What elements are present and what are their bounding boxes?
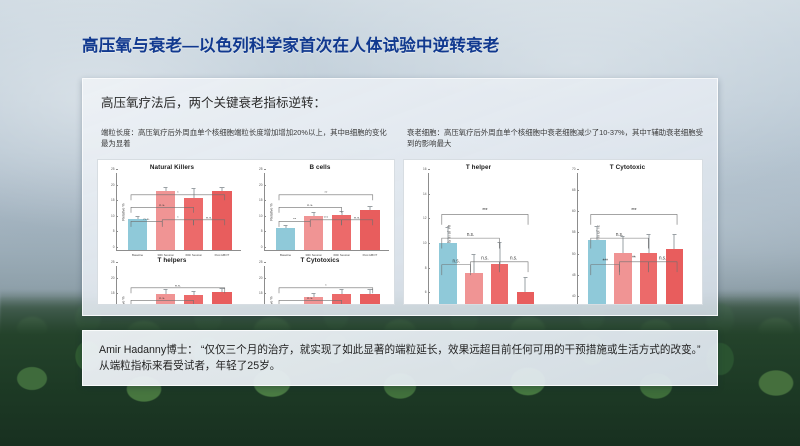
bar [184, 295, 203, 305]
bar-slot [156, 173, 175, 250]
y-tick-label: 15 [259, 198, 264, 202]
page-title: 高压氧与衰老—以色列科学家首次在人体试验中逆转衰老 [82, 32, 500, 56]
y-tick-label: 8 [425, 266, 428, 270]
bar [212, 292, 231, 305]
bar-slot [276, 266, 295, 305]
bar-slot [184, 173, 203, 250]
y-tick-label: 45 [572, 273, 577, 277]
error-bar [596, 226, 597, 241]
bar [212, 191, 231, 250]
error-bar [221, 187, 222, 192]
plot-area: Relative %0510152025*****n.s.n.s.**Basel… [264, 173, 389, 251]
y-tick-label: 55 [572, 230, 577, 234]
error-bar [165, 187, 166, 192]
y-tick-label: 0 [261, 245, 264, 249]
y-tick-label: 0 [113, 245, 116, 249]
bar [128, 219, 147, 250]
y-tick-label: 14 [423, 192, 428, 196]
bar [156, 191, 175, 250]
y-tick-label: 70 [572, 167, 577, 171]
error-bar [193, 291, 194, 295]
bar-slot [332, 173, 351, 250]
bar [491, 264, 509, 305]
error-bar [447, 227, 448, 243]
plot-area: Relative %0510152025**n.s.n.s.n.s.Baseli… [116, 266, 241, 305]
bar-slot [128, 266, 147, 305]
y-axis-line [264, 266, 265, 305]
y-tick-label: 25 [259, 167, 264, 171]
chart-panel-t-helpers: T helpersRelative %0510152025**n.s.n.s.n… [98, 253, 246, 305]
error-bar [473, 254, 474, 274]
error-bar [221, 288, 222, 292]
error-bar [285, 225, 286, 228]
error-bar [137, 216, 138, 220]
error-bar [341, 289, 342, 294]
bar [304, 297, 323, 305]
plot-area: Senescent cells in of Th46810121416n.s.n… [428, 173, 543, 305]
error-bar [193, 188, 194, 197]
y-tick-label: 25 [111, 260, 116, 264]
y-tick-label: 12 [423, 216, 428, 220]
chart-panel-natural-killers: Natural KillersRelative %0510152025n.s.*… [98, 160, 246, 253]
chart-title: T Cytotoxics [248, 257, 392, 264]
plot-area: Senescent cells in of Tc3540455055606570… [577, 173, 692, 305]
bar [360, 210, 379, 250]
bar [517, 292, 535, 305]
bar-slot [465, 173, 483, 305]
card-heading: 高压氧疗法后，两个关键衰老指标逆转： [101, 92, 326, 111]
bar-slot [439, 173, 457, 305]
error-bar [341, 211, 342, 215]
chart-panel-t-cytotoxics: T CytotoxicsRelative %0510152025n.s.*n.s… [246, 253, 394, 305]
bar-slot [517, 173, 535, 305]
bar-slot [640, 173, 658, 305]
error-bar [622, 236, 623, 253]
bar [276, 228, 295, 250]
bar [360, 294, 379, 305]
error-bar [648, 234, 649, 253]
bar-slot [156, 266, 175, 305]
y-tick-label: 20 [259, 183, 264, 187]
bar [332, 294, 351, 305]
y-tick-label: 10 [111, 214, 116, 218]
y-tick-label: 5 [113, 229, 116, 233]
bar-group [124, 173, 237, 250]
error-bar [369, 289, 370, 294]
bar [156, 294, 175, 305]
y-tick-label: 6 [425, 290, 428, 294]
bar-slot [491, 173, 509, 305]
bar-slot [588, 173, 606, 305]
chart-panel-b-cells: B cellsRelative %0510152025*****n.s.n.s.… [246, 160, 394, 253]
quote-box: Amir Hadanny博士： “仅仅三个月的治疗，就实现了如此显著的端粒延长，… [82, 330, 718, 386]
bar-group [272, 266, 385, 305]
y-tick-label: 10 [259, 214, 264, 218]
error-bar [525, 277, 526, 292]
bar-slot [212, 266, 231, 305]
chart-title: Natural Killers [100, 164, 244, 171]
y-axis-line [116, 266, 117, 305]
bar-slot [360, 266, 379, 305]
chart-panel-t-helper: T helperSenescent cells in of Th46810121… [404, 160, 553, 305]
senescent-cell-description: 衰老细胞：高压氧疗后外周血单个核细胞中衰老细胞减少了10-37%，其中T辅助衰老… [407, 127, 707, 150]
error-bar [674, 234, 675, 249]
bar [588, 240, 606, 305]
bar-slot [304, 173, 323, 250]
bar-group [435, 173, 539, 305]
bar [439, 243, 457, 305]
y-tick-label: 20 [259, 276, 264, 280]
chart-title: B cells [248, 164, 392, 171]
figure-senescent-panels: T helperSenescent cells in of Th46810121… [403, 159, 703, 305]
y-tick-label: 60 [572, 209, 577, 213]
error-bar [313, 212, 314, 216]
content-card: 高压氧疗法后，两个关键衰老指标逆转： 端粒长度：高压氧疗后外周血单个核细胞端粒长… [82, 78, 718, 316]
y-tick-label: 15 [111, 291, 116, 295]
chart-title: T helpers [100, 257, 244, 264]
y-tick-label: 15 [259, 291, 264, 295]
error-bar [165, 289, 166, 293]
bar-group [584, 173, 688, 305]
y-tick-label: 5 [261, 229, 264, 233]
plot-area: Relative %0510152025n.s.*n.s.n.s.*Baseli… [116, 173, 241, 251]
y-tick-label: 16 [423, 167, 428, 171]
bar-slot [666, 173, 684, 305]
y-tick-label: 50 [572, 252, 577, 256]
chart-panel-t-cytotoxic: T CytotoxicSenescent cells in of Tc35404… [553, 160, 702, 305]
y-tick-label: 25 [111, 167, 116, 171]
y-tick-label: 40 [572, 294, 577, 298]
bar-slot [304, 266, 323, 305]
bar-slot [184, 266, 203, 305]
bar [666, 249, 684, 305]
y-tick-label: 25 [259, 260, 264, 264]
y-tick-label: 15 [111, 198, 116, 202]
y-tick-label: 20 [111, 276, 116, 280]
figure-telomere-panels: Natural KillersRelative %0510152025n.s.*… [97, 159, 395, 305]
telomere-description: 端粒长度：高压氧疗后外周血单个核细胞端粒长度增加增加20%以上，其中B细胞的变化… [101, 127, 391, 150]
plot-area: Relative %0510152025n.s.*n.s.n.s.*Baseli… [264, 266, 389, 305]
bar [184, 198, 203, 250]
bar-slot [276, 173, 295, 250]
bar [332, 215, 351, 250]
y-axis-line [577, 173, 578, 305]
y-tick-label: 65 [572, 188, 577, 192]
bar-slot [332, 266, 351, 305]
bar-slot [614, 173, 632, 305]
bar-slot [212, 173, 231, 250]
figures-area: Natural KillersRelative %0510152025n.s.*… [97, 159, 705, 305]
bar [614, 253, 632, 305]
bar-group [272, 173, 385, 250]
bar-slot [360, 173, 379, 250]
error-bar [313, 293, 314, 297]
y-tick-label: 20 [111, 183, 116, 187]
y-tick-label: 10 [423, 241, 428, 245]
bar [304, 216, 323, 250]
error-bar [499, 242, 500, 264]
bar-group [124, 266, 237, 305]
slide-canvas: 高压氧与衰老—以色列科学家首次在人体试验中逆转衰老 高压氧疗法后，两个关键衰老指… [0, 0, 800, 446]
bar [465, 273, 483, 305]
bar [640, 253, 658, 305]
error-bar [369, 206, 370, 210]
bar-slot [128, 173, 147, 250]
